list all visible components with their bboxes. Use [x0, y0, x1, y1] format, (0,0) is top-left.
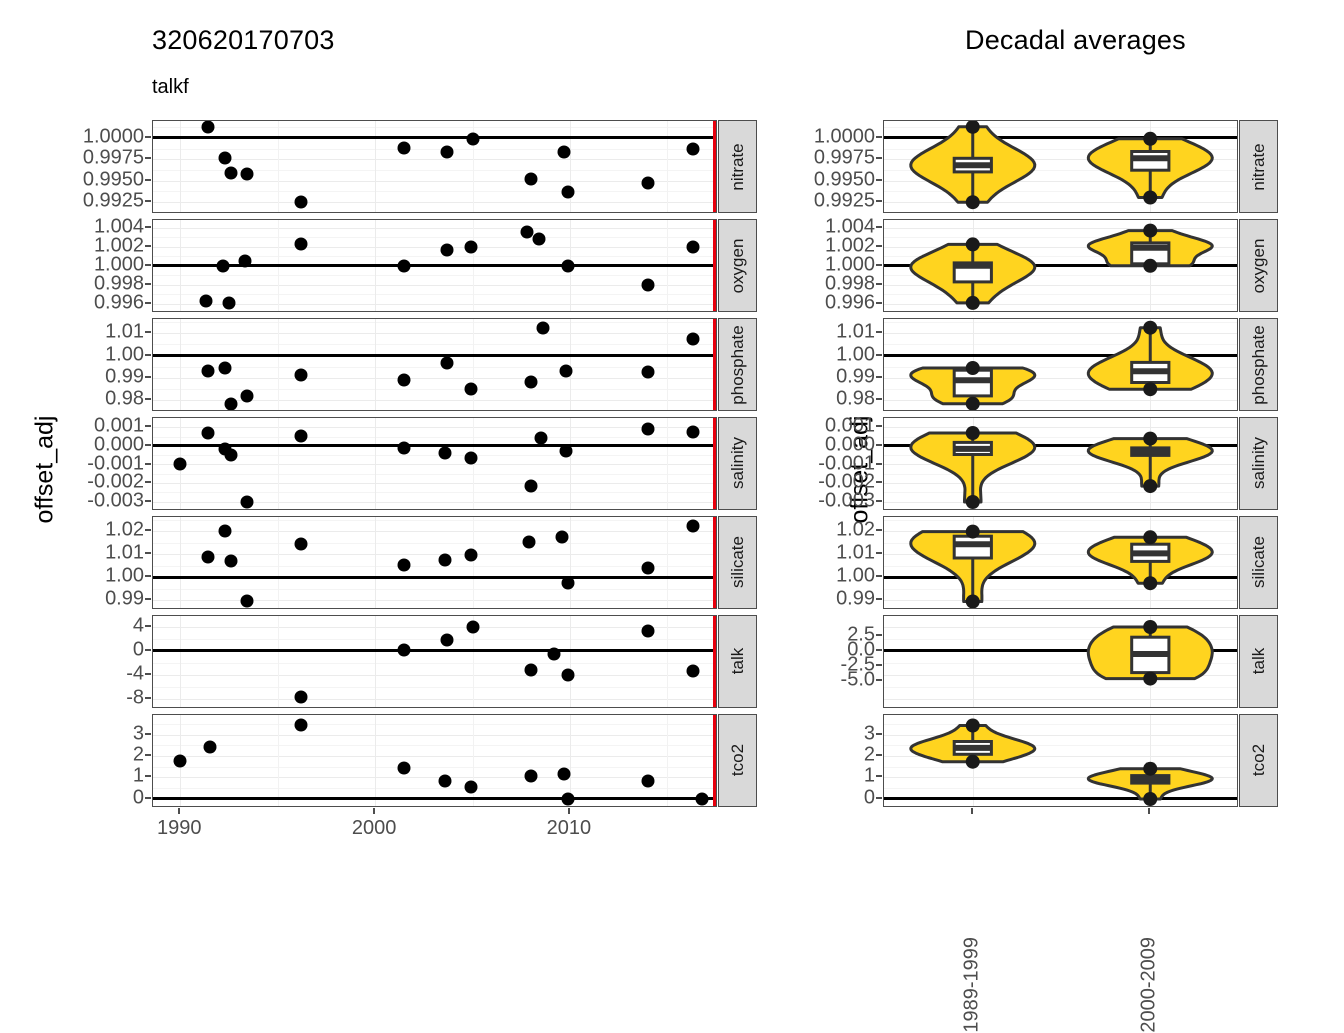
y-tick-mark: [876, 354, 882, 356]
gridline-minor: [153, 149, 716, 150]
facet-panel-talk: talk: [152, 615, 757, 708]
reference-line: [153, 264, 716, 267]
y-tick-mark: [145, 398, 151, 400]
violin-extreme-point: [966, 397, 980, 411]
data-point: [536, 321, 549, 334]
y-tick-label: 0: [56, 638, 144, 661]
y-tick-label: 0: [56, 786, 144, 809]
violin-layer: [884, 220, 1238, 312]
y-tick-mark: [876, 679, 882, 681]
violin-extreme-point: [1143, 792, 1157, 806]
y-tick-mark: [145, 673, 151, 675]
y-tick-mark: [145, 529, 151, 531]
y-tick-label: 1.01: [56, 321, 144, 344]
gridline-vertical: [375, 418, 376, 509]
gridline-vertical: [180, 121, 181, 212]
y-tick-label: 0.99: [56, 365, 144, 388]
y-tick-label: 0.98: [56, 388, 144, 411]
x-tick-label: 2010: [547, 817, 592, 840]
gridline-vertical: [375, 715, 376, 806]
violin-layer: [884, 319, 1238, 411]
x-tick-label: 1990: [157, 817, 202, 840]
facet-panel-phosphate: phosphate: [883, 318, 1278, 411]
right-chart-area: 0.99250.99500.99751.0000nitrate0.9960.99…: [883, 120, 1278, 807]
data-point: [219, 361, 232, 374]
violin-extreme-point: [1143, 671, 1157, 685]
gridline-vertical: [375, 121, 376, 212]
gridline-vertical-minor: [667, 517, 668, 608]
y-tick-mark: [145, 283, 151, 285]
y-tick-mark: [145, 200, 151, 202]
violin-extreme-point: [1143, 132, 1157, 146]
y-tick-mark: [876, 733, 882, 735]
data-point: [464, 240, 477, 253]
violin-1989-1999: [911, 361, 1035, 411]
data-point: [532, 232, 545, 245]
facet-strip-label: phosphate: [728, 325, 748, 404]
y-tick-label: 0.99: [56, 588, 144, 611]
facet-panel-oxygen: oxygen: [152, 219, 757, 312]
y-tick-mark: [145, 775, 151, 777]
facet-strip-salinity: salinity: [1239, 417, 1278, 510]
y-tick-mark: [876, 444, 882, 446]
data-point: [525, 770, 538, 783]
facet-strip-label: talk: [728, 648, 748, 674]
gridline-major: [153, 483, 716, 484]
facet-strip-label: silicate: [1249, 536, 1269, 588]
x-tick-label: 2000-2009: [1138, 937, 1161, 1033]
violin-extreme-point: [966, 426, 980, 440]
data-point: [295, 368, 308, 381]
facet-strip-label: salinity: [1249, 438, 1269, 490]
facet-strip-talk: talk: [718, 615, 757, 708]
y-tick-mark: [876, 754, 882, 756]
gridline-vertical-minor: [473, 319, 474, 410]
y-tick-mark: [876, 179, 882, 181]
gridline-minor: [153, 745, 716, 746]
gridline-vertical: [570, 517, 571, 608]
data-point: [558, 145, 571, 158]
data-point: [174, 755, 187, 768]
gridline-minor: [153, 237, 716, 238]
data-point: [641, 775, 654, 788]
gridline-minor: [153, 767, 716, 768]
gridline-vertical-minor: [667, 418, 668, 509]
data-point: [398, 259, 411, 272]
y-tick-mark: [876, 283, 882, 285]
y-tick-mark: [145, 264, 151, 266]
cruise-year-marker: [713, 616, 716, 707]
data-point: [398, 374, 411, 387]
violin-layer: [884, 715, 1238, 807]
y-tick-mark: [876, 481, 882, 483]
facet-strip-talk: talk: [1239, 615, 1278, 708]
data-point: [224, 397, 237, 410]
data-point: [641, 624, 654, 637]
data-point: [686, 241, 699, 254]
y-tick-mark: [145, 625, 151, 627]
y-tick-mark: [145, 302, 151, 304]
gridline-major: [153, 400, 716, 401]
y-tick-mark: [876, 664, 882, 666]
gridline-vertical: [180, 517, 181, 608]
data-point: [696, 792, 709, 805]
violin-extreme-point: [1143, 382, 1157, 396]
data-point: [238, 255, 251, 268]
gridline-major: [153, 756, 716, 757]
plot-panel-silicate: [152, 516, 717, 609]
gridline-vertical: [180, 616, 181, 707]
y-tick-label: 1.01: [787, 542, 875, 565]
y-tick-mark: [145, 598, 151, 600]
reference-line: [153, 444, 716, 447]
y-tick-mark: [876, 775, 882, 777]
gridline-minor: [153, 724, 716, 725]
y-tick-mark: [145, 463, 151, 465]
gridline-minor: [153, 170, 716, 171]
gridline-major: [153, 159, 716, 160]
facet-strip-label: tco2: [728, 744, 748, 776]
y-tick-label: 0.9925: [56, 189, 144, 212]
facet-strip-nitrate: nitrate: [718, 120, 757, 213]
data-point: [686, 425, 699, 438]
y-tick-mark: [145, 754, 151, 756]
y-tick-label: 2: [56, 744, 144, 767]
facet-strip-nitrate: nitrate: [1239, 120, 1278, 213]
facet-strip-oxygen: oxygen: [718, 219, 757, 312]
violin-1989-1999: [911, 426, 1035, 509]
data-point: [464, 451, 477, 464]
y-tick-mark: [876, 136, 882, 138]
y-tick-mark: [876, 245, 882, 247]
data-point: [464, 549, 477, 562]
y-tick-mark: [145, 649, 151, 651]
facet-strip-silicate: silicate: [718, 516, 757, 609]
violin-2000-2009: [1088, 530, 1212, 590]
facet-strip-label: nitrate: [1249, 143, 1269, 190]
data-point: [201, 365, 214, 378]
y-tick-mark: [145, 245, 151, 247]
plot-panel-salinity: [883, 417, 1238, 510]
gridline-vertical-minor: [278, 616, 279, 707]
data-point: [525, 664, 538, 677]
violin-extreme-point: [966, 195, 980, 209]
violin-layer: [884, 517, 1238, 609]
data-point: [219, 151, 232, 164]
y-tick-mark: [876, 157, 882, 159]
reference-line: [153, 354, 716, 357]
y-tick-mark: [145, 425, 151, 427]
violin-extreme-point: [1143, 479, 1157, 493]
plot-panel-talk: [152, 615, 717, 708]
y-tick-mark: [145, 481, 151, 483]
data-point: [201, 120, 214, 133]
right-chart-title: Decadal averages: [965, 25, 1186, 56]
gridline-major: [153, 777, 716, 778]
cruise-year-marker: [713, 121, 716, 212]
y-tick-label: 1.004: [787, 215, 875, 238]
data-point: [224, 166, 237, 179]
gridline-vertical-minor: [278, 418, 279, 509]
y-tick-mark: [145, 157, 151, 159]
y-tick-mark: [145, 733, 151, 735]
gridline-minor: [153, 788, 716, 789]
y-tick-label: 3: [787, 722, 875, 745]
gridline-minor: [153, 322, 716, 323]
y-tick-label: 0.001: [56, 415, 144, 438]
y-tick-label: 1.01: [787, 321, 875, 344]
x-tick-mark: [971, 808, 973, 814]
facet-panel-tco2: tco2: [152, 714, 757, 807]
left-chart-subtitle: talkf: [152, 76, 189, 99]
data-point: [686, 665, 699, 678]
y-tick-label: 1.0000: [787, 125, 875, 148]
y-tick-label: 0.9950: [56, 168, 144, 191]
facet-panel-nitrate: nitrate: [152, 120, 757, 213]
data-point: [441, 244, 454, 257]
facet-panel-salinity: salinity: [152, 417, 757, 510]
y-tick-mark: [145, 376, 151, 378]
y-tick-mark: [145, 552, 151, 554]
gridline-minor: [153, 455, 716, 456]
gridline-minor: [153, 275, 716, 276]
violin-extreme-point: [966, 495, 980, 509]
violin-extreme-point: [1143, 620, 1157, 634]
facet-strip-label: silicate: [728, 536, 748, 588]
violin-2000-2009: [1088, 620, 1212, 686]
violin-extreme-point: [1143, 530, 1157, 544]
gridline-minor: [153, 191, 716, 192]
gridline-major: [153, 627, 716, 628]
reference-line: [153, 136, 716, 139]
facet-strip-label: talk: [1249, 648, 1269, 674]
data-point: [525, 376, 538, 389]
gridline-major: [153, 304, 716, 305]
gridline-minor: [153, 437, 716, 438]
data-point: [219, 525, 232, 538]
y-tick-label: 1.00: [56, 343, 144, 366]
y-tick-mark: [876, 398, 882, 400]
gridline-vertical-minor: [278, 715, 279, 806]
violin-extreme-point: [966, 754, 980, 768]
gridline-minor: [153, 492, 716, 493]
y-tick-mark: [876, 264, 882, 266]
gridline-vertical-minor: [278, 517, 279, 608]
data-point: [548, 648, 561, 661]
y-tick-label: 0.99: [787, 588, 875, 611]
left-chart-area: 0.99250.99500.99751.0000nitrate0.9960.99…: [152, 120, 757, 807]
cruise-year-marker: [713, 715, 716, 806]
y-tick-label: -4: [56, 662, 144, 685]
data-point: [398, 644, 411, 657]
violin-2000-2009: [1088, 431, 1212, 493]
data-point: [464, 780, 477, 793]
violin-1989-1999: [911, 121, 1035, 209]
data-point: [560, 365, 573, 378]
y-tick-mark: [145, 179, 151, 181]
gridline-major: [153, 202, 716, 203]
plot-panel-nitrate: [152, 120, 717, 213]
y-tick-label: -8: [56, 686, 144, 709]
y-tick-mark: [876, 649, 882, 651]
x-tick-label: 2000: [352, 817, 397, 840]
gridline-major: [153, 464, 716, 465]
violin-2000-2009: [1088, 224, 1212, 273]
data-point: [199, 295, 212, 308]
data-point: [224, 449, 237, 462]
gridline-major: [153, 502, 716, 503]
gridline-major: [153, 427, 716, 428]
y-tick-mark: [145, 797, 151, 799]
violin-extreme-point: [1143, 191, 1157, 205]
x-tick-mark: [568, 808, 570, 814]
y-tick-label: 1.02: [56, 519, 144, 542]
data-point: [525, 479, 538, 492]
plot-panel-phosphate: [883, 318, 1238, 411]
x-tick-mark: [1148, 808, 1150, 814]
gridline-minor: [153, 589, 716, 590]
plot-panel-phosphate: [152, 318, 717, 411]
y-tick-label: 3: [56, 722, 144, 745]
violin-layer: [884, 418, 1238, 510]
facet-strip-label: oxygen: [728, 238, 748, 293]
y-tick-label: 0.001: [787, 415, 875, 438]
violin-1989-1999: [911, 237, 1035, 310]
gridline-minor: [153, 474, 716, 475]
gridline-major: [153, 600, 716, 601]
violin-extreme-point: [966, 361, 980, 375]
y-tick-label: 1.01: [56, 542, 144, 565]
violin-extreme-point: [1143, 259, 1157, 273]
data-point: [441, 146, 454, 159]
x-tick-mark: [178, 808, 180, 814]
gridline-vertical-minor: [278, 319, 279, 410]
y-tick-label: 1.0000: [56, 125, 144, 148]
gridline-minor: [153, 639, 716, 640]
data-point: [201, 550, 214, 563]
gridline-vertical: [570, 418, 571, 509]
data-point: [686, 519, 699, 532]
gridline-vertical: [375, 616, 376, 707]
y-tick-mark: [876, 500, 882, 502]
data-point: [466, 133, 479, 146]
y-tick-label: 0.9975: [787, 147, 875, 170]
data-point: [686, 143, 699, 156]
data-point: [641, 366, 654, 379]
violin-extreme-point: [966, 524, 980, 538]
gridline-vertical: [375, 517, 376, 608]
y-tick-label: 1.00: [56, 565, 144, 588]
gridline-vertical: [570, 319, 571, 410]
violin-1989-1999: [911, 718, 1035, 768]
y-tick-label: 2.5: [787, 623, 875, 646]
y-tick-label: 0: [787, 786, 875, 809]
data-point: [641, 562, 654, 575]
gridline-vertical-minor: [667, 715, 668, 806]
y-tick-mark: [876, 226, 882, 228]
violin-extreme-point: [966, 594, 980, 608]
y-tick-mark: [876, 634, 882, 636]
violin-extreme-point: [966, 718, 980, 732]
data-point: [441, 634, 454, 647]
gridline-minor: [153, 389, 716, 390]
y-tick-mark: [145, 444, 151, 446]
gridline-minor: [153, 687, 716, 688]
data-point: [562, 576, 575, 589]
gridline-vertical-minor: [667, 121, 668, 212]
data-point: [295, 719, 308, 732]
gridline-vertical: [570, 616, 571, 707]
y-tick-mark: [145, 354, 151, 356]
violin-2000-2009: [1088, 761, 1212, 805]
gridline-major: [153, 378, 716, 379]
y-tick-mark: [145, 500, 151, 502]
data-point: [201, 426, 214, 439]
facet-panel-talk: talk: [883, 615, 1278, 708]
plot-panel-nitrate: [883, 120, 1238, 213]
data-point: [441, 357, 454, 370]
plot-panel-oxygen: [152, 219, 717, 312]
facet-strip-phosphate: phosphate: [718, 318, 757, 411]
data-point: [562, 668, 575, 681]
violin-extreme-point: [966, 296, 980, 310]
data-point: [562, 792, 575, 805]
plot-panel-tco2: [152, 714, 717, 807]
reference-line: [153, 576, 716, 579]
gridline-major: [153, 699, 716, 700]
x-tick-mark: [373, 808, 375, 814]
data-point: [439, 554, 452, 567]
data-point: [398, 441, 411, 454]
y-tick-mark: [876, 598, 882, 600]
facet-strip-label: tco2: [1249, 744, 1269, 776]
gridline-minor: [153, 256, 716, 257]
gridline-vertical: [570, 121, 571, 212]
violin-extreme-point: [1143, 321, 1157, 335]
facet-strip-label: salinity: [728, 438, 748, 490]
data-point: [203, 741, 216, 754]
gridline-minor: [153, 543, 716, 544]
figure-root: 320620170703 talkf Decadal averages offs…: [0, 0, 1344, 960]
facet-panel-phosphate: phosphate: [152, 318, 757, 411]
plot-panel-tco2: [883, 714, 1238, 807]
gridline-major: [153, 247, 716, 248]
facet-strip-label: oxygen: [1249, 238, 1269, 293]
y-tick-mark: [876, 376, 882, 378]
data-point: [641, 177, 654, 190]
data-point: [295, 238, 308, 251]
data-point: [295, 690, 308, 703]
facet-panel-nitrate: nitrate: [883, 120, 1278, 213]
y-tick-label: 0.9950: [787, 168, 875, 191]
gridline-major: [153, 228, 716, 229]
facet-strip-tco2: tco2: [1239, 714, 1278, 807]
gridline-minor: [153, 520, 716, 521]
violin-layer: [884, 616, 1238, 708]
facet-strip-salinity: salinity: [718, 417, 757, 510]
gridline-major: [153, 181, 716, 182]
gridline-vertical-minor: [278, 121, 279, 212]
x-tick-label: 1989-1999: [960, 937, 983, 1033]
data-point: [534, 432, 547, 445]
data-point: [556, 531, 569, 544]
y-tick-mark: [876, 529, 882, 531]
violin-extreme-point: [1143, 224, 1157, 238]
data-point: [523, 535, 536, 548]
gridline-vertical-minor: [473, 517, 474, 608]
gridline-minor: [884, 212, 1237, 213]
gridline-major: [153, 735, 716, 736]
